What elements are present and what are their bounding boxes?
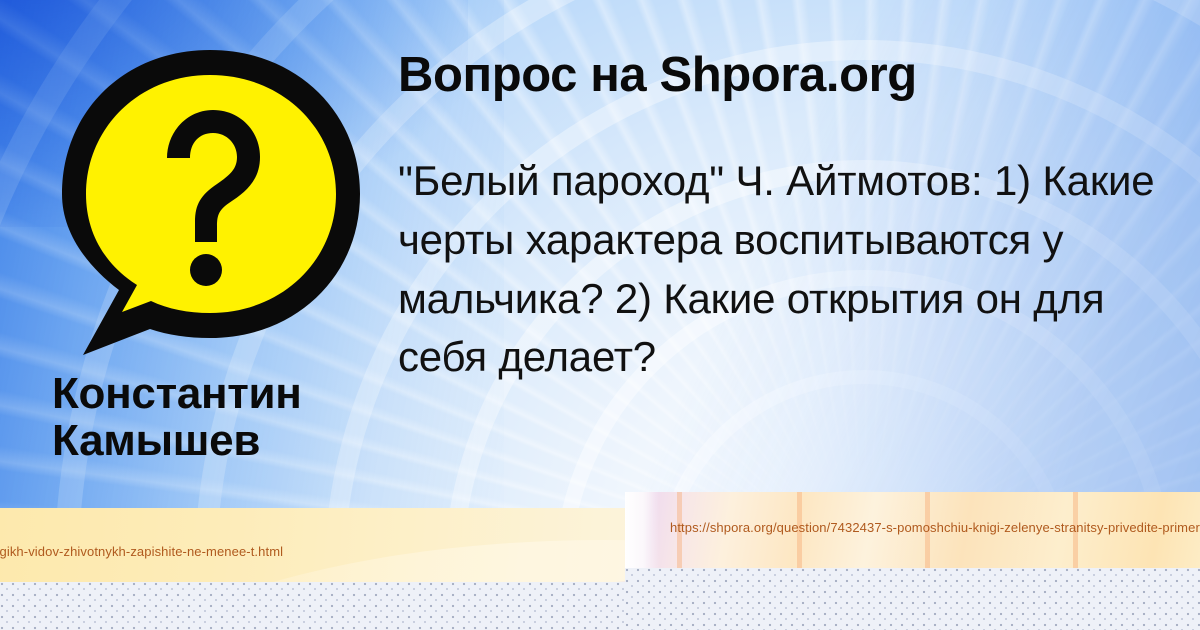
right-banner-url[interactable]: https://shpora.org/question/7432437-s-po…	[670, 520, 1200, 535]
left-banner-url[interactable]: -drugikh-vidov-zhivotnykh-zapishite-ne-m…	[0, 544, 283, 559]
right-banner-dot-pattern	[625, 568, 1200, 630]
bottom-right-banner: https://shpora.org/question/7432437-s-po…	[625, 492, 1200, 630]
author-name: Константин Камышев	[52, 371, 432, 464]
question-mark-speech-bubble-icon	[47, 42, 367, 362]
page-title: Вопрос на Shpora.org	[398, 47, 917, 103]
question-text: "Белый пароход" Ч. Айтмотов: 1) Какие че…	[398, 152, 1188, 387]
question-mark-dot	[190, 254, 222, 286]
share-card: Константин Камышев Вопрос на Shpora.org …	[0, 0, 1200, 630]
